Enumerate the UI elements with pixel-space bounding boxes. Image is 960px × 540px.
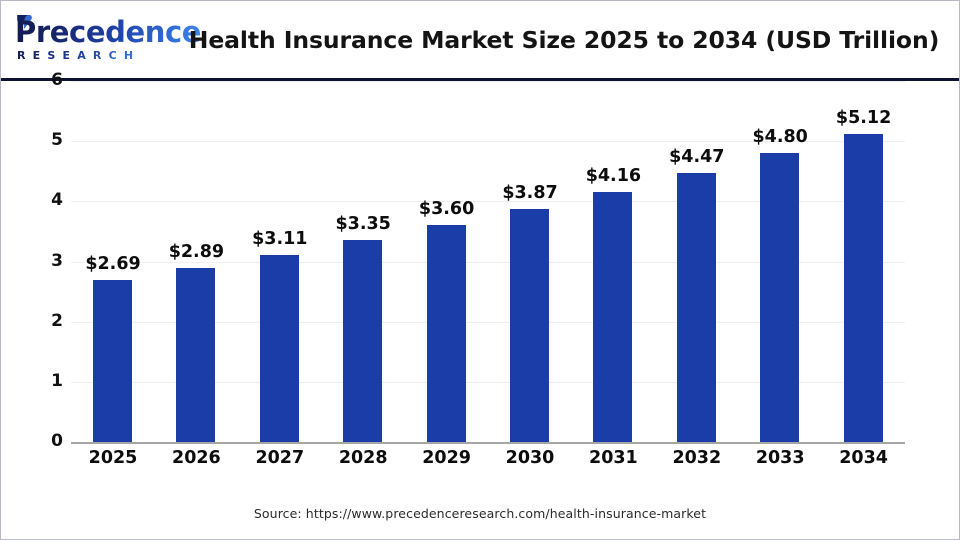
bar-series: $2.69$2.89$3.11$3.35$3.60$3.87$4.16$4.47… — [71, 81, 905, 443]
bar[interactable] — [593, 192, 632, 442]
x-axis-tick-label: 2032 — [655, 447, 739, 469]
bar-value-label: $4.47 — [646, 147, 748, 167]
bar-value-label: $4.16 — [562, 166, 664, 186]
bar[interactable] — [260, 255, 299, 442]
chart-canvas: Precedence RESEARCH Health Insurance Mar… — [0, 0, 960, 540]
x-axis-tick-label: 2029 — [405, 447, 489, 469]
logo-wordmark: Precedence — [15, 15, 201, 49]
bar[interactable] — [343, 240, 382, 442]
bar[interactable] — [677, 173, 716, 442]
bar-group[interactable]: $2.69 — [71, 80, 155, 442]
bar-value-label: $4.80 — [729, 127, 831, 147]
x-axis-tick-label: 2033 — [738, 447, 822, 469]
plot-area: 0123456 $2.69$2.89$3.11$3.35$3.60$3.87$4… — [1, 81, 959, 539]
bar-group[interactable]: $4.47 — [655, 80, 739, 442]
bar[interactable] — [176, 268, 215, 442]
bar-group[interactable]: $4.16 — [571, 80, 655, 442]
y-axis-tick-label: 2 — [19, 313, 63, 330]
bar-group[interactable]: $3.35 — [321, 80, 405, 442]
precedence-research-logo: Precedence RESEARCH — [15, 15, 165, 65]
y-axis-tick-label: 1 — [19, 373, 63, 390]
y-axis: 0123456 — [11, 81, 63, 444]
source-caption: Source: https://www.precedenceresearch.c… — [1, 506, 959, 521]
y-axis-tick-label: 0 — [19, 433, 63, 450]
x-axis-tick-label: 2028 — [321, 447, 405, 469]
bar[interactable] — [844, 134, 883, 442]
bar-group[interactable]: $2.89 — [154, 80, 238, 442]
y-axis-tick-label: 5 — [19, 132, 63, 149]
bar-group[interactable]: $4.80 — [738, 80, 822, 442]
bar-value-label: $5.12 — [813, 108, 915, 128]
bar[interactable] — [93, 280, 132, 442]
logo-subtitle: RESEARCH — [17, 49, 140, 62]
y-axis-tick-label: 3 — [19, 253, 63, 270]
bar-group[interactable]: $5.12 — [822, 80, 906, 442]
x-axis-tick-label: 2030 — [488, 447, 572, 469]
y-axis-tick-label: 6 — [19, 72, 63, 89]
x-axis-tick-label: 2034 — [822, 447, 906, 469]
x-axis-tick-label: 2027 — [238, 447, 322, 469]
y-axis-tick-label: 4 — [19, 192, 63, 209]
x-axis-tick-label: 2025 — [71, 447, 155, 469]
x-axis-tick-label: 2026 — [154, 447, 238, 469]
chart-header: Precedence RESEARCH Health Insurance Mar… — [1, 1, 959, 79]
bar[interactable] — [427, 225, 466, 442]
bar-group[interactable]: $3.87 — [488, 80, 572, 442]
bar[interactable] — [760, 153, 799, 442]
chart-title: Health Insurance Market Size 2025 to 203… — [179, 1, 949, 78]
bar[interactable] — [510, 209, 549, 442]
bar-group[interactable]: $3.60 — [405, 80, 489, 442]
x-axis: 2025202620272028202920302031203220332034 — [71, 447, 905, 477]
bar-value-label: $3.87 — [479, 183, 581, 203]
x-axis-tick-label: 2031 — [571, 447, 655, 469]
bar-group[interactable]: $3.11 — [238, 80, 322, 442]
